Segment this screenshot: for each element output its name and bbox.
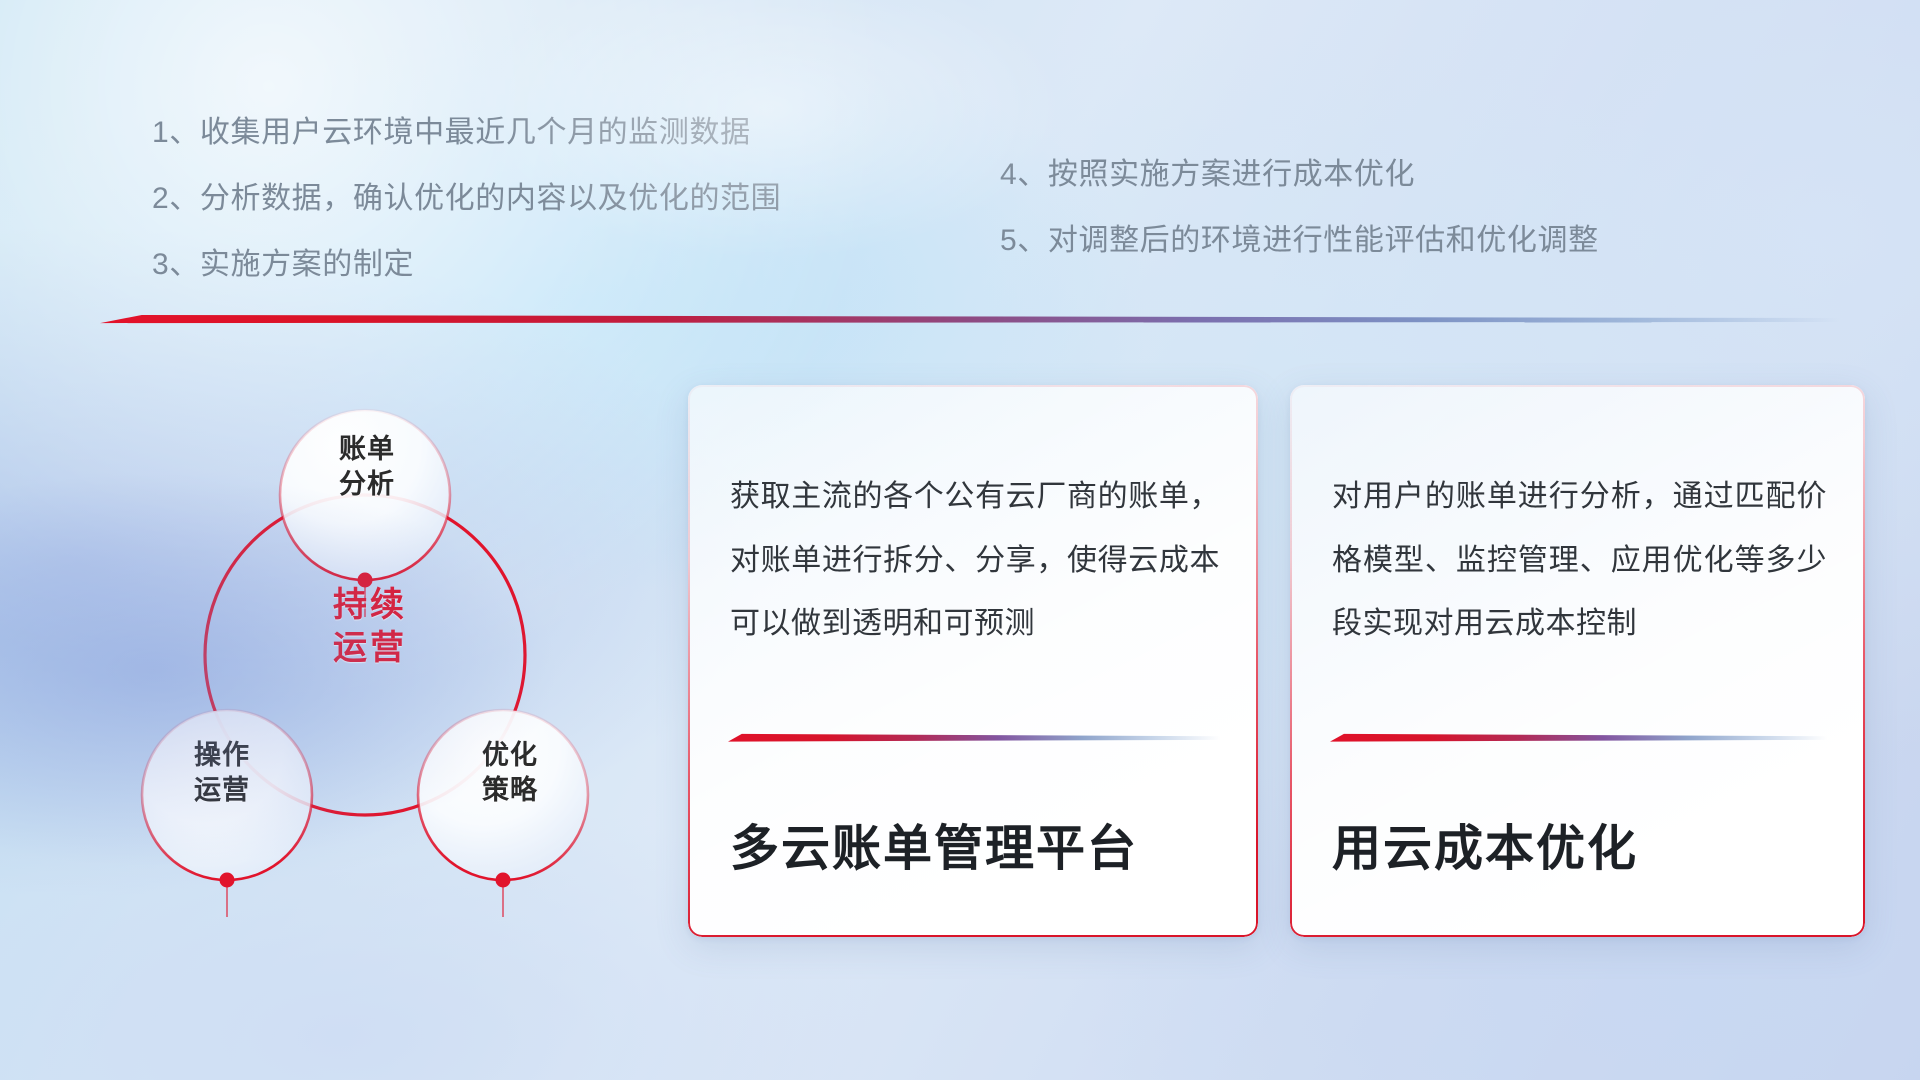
feature-card-description: 获取主流的各个公有云厂商的账单，对账单进行拆分、分享，使得云成本可以做到透明和可… bbox=[730, 465, 1220, 656]
divider-bar bbox=[100, 313, 1840, 327]
lobe-label-br-line2: 策略 bbox=[430, 773, 590, 808]
diagram-center-label: 持续 运营 bbox=[285, 584, 455, 669]
feature-card-description: 对用户的账单进行分析，通过匹配价格模型、监控管理、应用优化等多少段实现对用云成本… bbox=[1332, 465, 1827, 656]
center-label-line1: 持续 bbox=[285, 584, 455, 627]
feature-card-rule bbox=[1330, 733, 1827, 744]
feature-card[interactable]: 对用户的账单进行分析，通过匹配价格模型、监控管理、应用优化等多少段实现对用云成本… bbox=[1290, 385, 1865, 937]
process-step-item: 4、按照实施方案进行成本优化 bbox=[1000, 160, 1599, 190]
slide-canvas: 1、收集用户云环境中最近几个月的监测数据 2、分析数据，确认优化的内容以及优化的… bbox=[0, 0, 1920, 1080]
feature-card-title: 用云成本优化 bbox=[1332, 821, 1835, 877]
feature-card-rule bbox=[728, 733, 1220, 744]
process-step-item: 5、对调整后的环境进行性能评估和优化调整 bbox=[1000, 226, 1599, 256]
process-step-item: 1、收集用户云环境中最近几个月的监测数据 bbox=[152, 118, 781, 148]
feature-card-rule-bar bbox=[728, 733, 1220, 744]
process-step-list-right: 4、按照实施方案进行成本优化 5、对调整后的环境进行性能评估和优化调整 bbox=[1000, 160, 1599, 256]
lobe-label-br-line1: 优化 bbox=[430, 738, 590, 773]
lobe-label-top-line1: 账单 bbox=[287, 432, 447, 467]
lobe-label-bottom-left: 操作 运营 bbox=[142, 738, 302, 808]
lobe-label-top: 账单 分析 bbox=[287, 432, 447, 502]
process-step-list-left: 1、收集用户云环境中最近几个月的监测数据 2、分析数据，确认优化的内容以及优化的… bbox=[152, 118, 781, 280]
node-marker-bottom-right bbox=[496, 873, 511, 918]
section-divider bbox=[100, 313, 1840, 327]
continuous-operation-venn-diagram: 账单 分析 操作 运营 优化 策略 持续 运营 bbox=[100, 355, 640, 955]
center-label-line2: 运营 bbox=[285, 627, 455, 670]
lobe-label-bl-line2: 运营 bbox=[142, 773, 302, 808]
node-marker-bottom-left bbox=[220, 873, 235, 918]
lobe-label-top-line2: 分析 bbox=[287, 467, 447, 502]
lobe-label-bottom-right: 优化 策略 bbox=[430, 738, 590, 808]
feature-card[interactable]: 获取主流的各个公有云厂商的账单，对账单进行拆分、分享，使得云成本可以做到透明和可… bbox=[688, 385, 1258, 937]
process-step-item: 3、实施方案的制定 bbox=[152, 250, 781, 280]
lobe-label-bl-line1: 操作 bbox=[142, 738, 302, 773]
process-step-item: 2、分析数据，确认优化的内容以及优化的范围 bbox=[152, 184, 781, 214]
feature-card-rule-bar bbox=[1330, 733, 1827, 744]
feature-card-title: 多云账单管理平台 bbox=[730, 821, 1228, 877]
